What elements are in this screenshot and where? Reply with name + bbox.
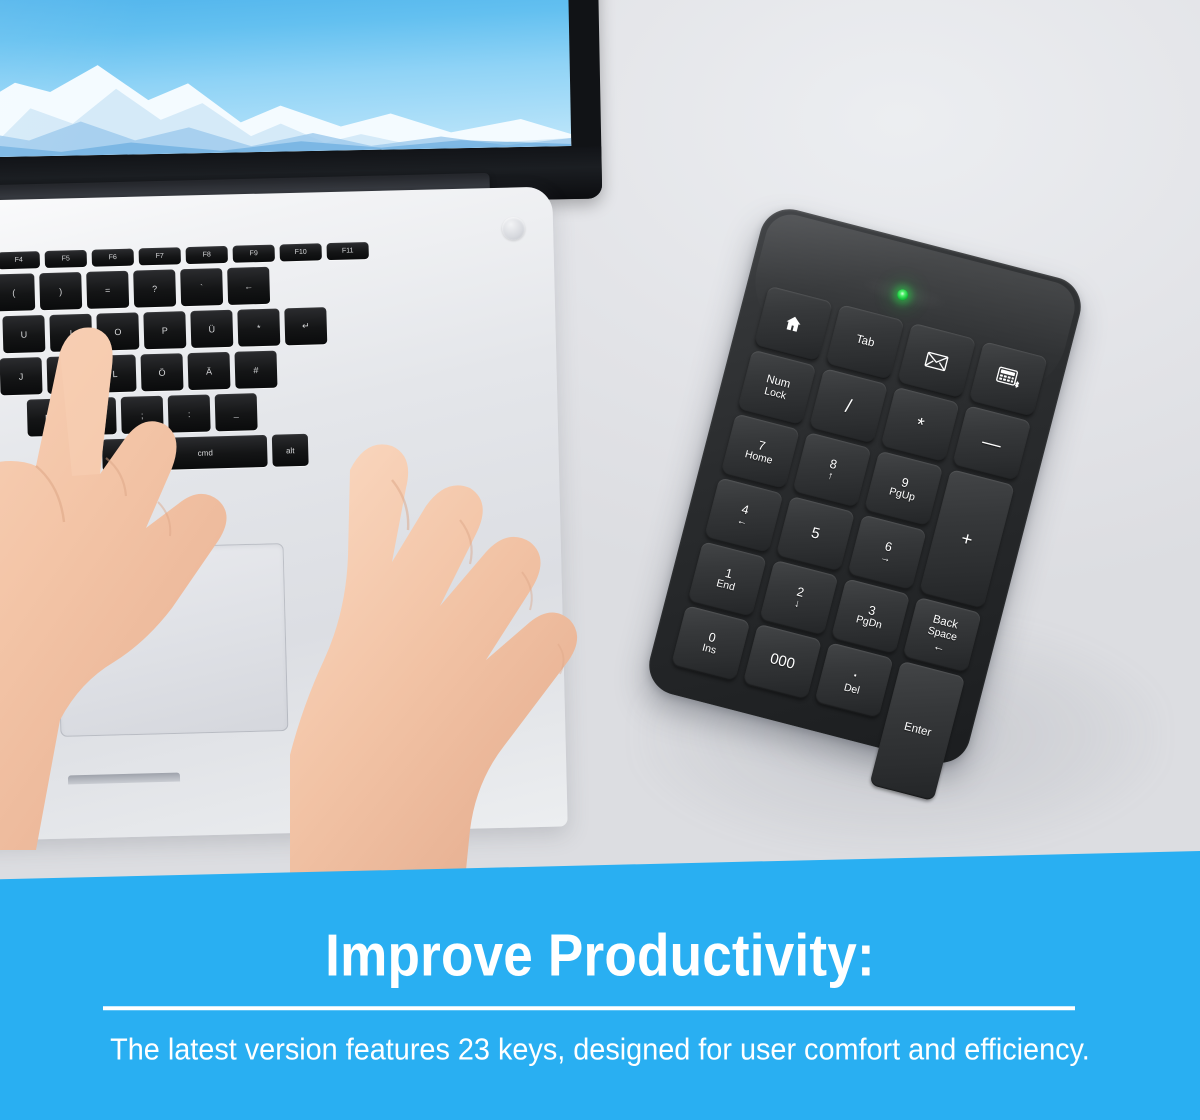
laptop-key-f10[interactable]: F10: [279, 243, 321, 261]
laptop-key-f11[interactable]: F11: [326, 242, 368, 260]
keypad-key-3-pgdn[interactable]: 3PgDn: [831, 578, 910, 655]
key-label-arrow: ←: [932, 639, 947, 654]
home-icon: [781, 312, 805, 336]
keypad-key-6-right[interactable]: 6→: [847, 514, 926, 591]
key-label-primary: 000: [768, 651, 796, 672]
key-label-secondary: Ins: [701, 643, 717, 657]
laptop-screen: [0, 0, 571, 159]
laptop-key-f8[interactable]: F8: [186, 246, 228, 264]
laptop-key-f9[interactable]: F9: [233, 245, 275, 263]
banner-divider: [103, 1006, 1075, 1010]
key-label-secondary: Del: [843, 682, 861, 696]
key-label-primary: Tab: [854, 334, 875, 350]
key-label-secondary: PgUp: [888, 486, 916, 503]
key-label-secondary: Home: [744, 449, 774, 466]
key-label-primary: —: [980, 432, 1003, 455]
key-label-primary: *: [914, 415, 926, 435]
key-label-primary: /: [843, 396, 853, 416]
keypad-key-multiply[interactable]: *: [880, 387, 959, 464]
laptop-key-f5[interactable]: F5: [45, 250, 87, 268]
laptop-key-f7[interactable]: F7: [139, 247, 181, 265]
keypad-key-7-home[interactable]: 7Home: [721, 413, 800, 490]
key-label-secondary: →: [879, 552, 892, 565]
key-label-secondary: End: [715, 578, 736, 593]
laptop-key-f6[interactable]: F6: [92, 249, 134, 267]
keypad-key-8-up[interactable]: 8↑: [792, 432, 871, 509]
key-label-secondary: ↓: [793, 598, 801, 610]
product-photo: F1 F2 F3 F4 F5 F6 F7 F8 F9 F10 F11 % & /…: [0, 0, 1200, 930]
product-marketing-image: F1 F2 F3 F4 F5 F6 F7 F8 F9 F10 F11 % & /…: [0, 0, 1200, 1120]
keypad-key-numlock[interactable]: NumLock: [737, 350, 816, 427]
key-label-primary: +: [959, 529, 975, 550]
power-button[interactable]: [502, 217, 525, 240]
keypad-key-0-ins[interactable]: 0Ins: [671, 605, 750, 682]
banner-headline: Improve Productivity:: [60, 921, 1140, 989]
key-label-secondary: ←: [736, 515, 749, 528]
banner-content: Improve Productivity: The latest version…: [0, 879, 1200, 1120]
keypad-key-1-end[interactable]: 1End: [687, 541, 766, 618]
mail-icon: [924, 350, 950, 372]
keypad-key-9-pgup[interactable]: 9PgUp: [864, 450, 943, 527]
keypad-key-2-down[interactable]: 2↓: [759, 560, 838, 637]
calculator-bluetooth-icon: [993, 366, 1023, 394]
marketing-banner: Improve Productivity: The latest version…: [0, 850, 1200, 1120]
keypad-key-dot-del[interactable]: ·Del: [814, 642, 893, 719]
keypad-key-000[interactable]: 000: [743, 624, 822, 701]
keypad-key-divide[interactable]: /: [809, 368, 888, 445]
key-label-primary: Enter: [903, 722, 933, 740]
keypad-key-4-left[interactable]: 4←: [704, 477, 783, 554]
keypad-key-5[interactable]: 5: [776, 496, 855, 573]
key-label-primary: 5: [809, 526, 821, 543]
laptop-key-f4[interactable]: F4: [0, 251, 40, 269]
key-label-secondary: PgDn: [855, 614, 883, 631]
key-label-secondary: ↑: [826, 471, 834, 483]
banner-subtext: The latest version features 23 keys, des…: [42, 1031, 1158, 1067]
